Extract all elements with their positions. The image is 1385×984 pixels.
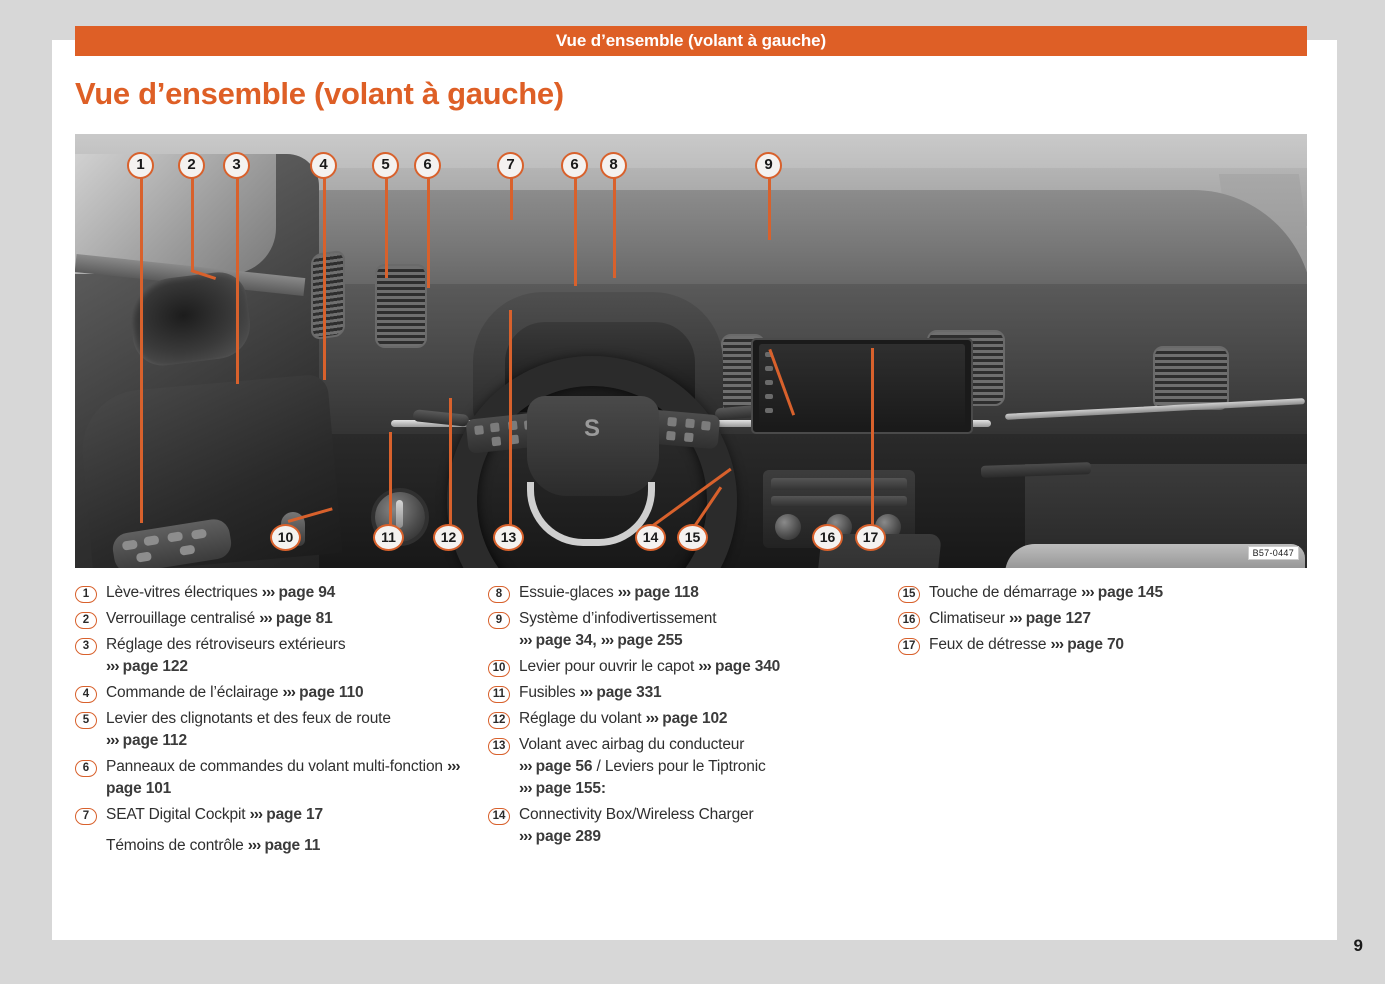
page-ref-12[interactable]: page 102 <box>662 710 727 727</box>
legend-item-8: 8 Essuie-glaces ››› page 118 <box>488 582 898 604</box>
legend-item-2: 2 Verrouillage centralisé ››› page 81 <box>75 608 488 630</box>
legend-label-10: Levier pour ouvrir le capot <box>519 658 694 675</box>
page-number: 9 <box>1354 936 1363 956</box>
page-ref-4[interactable]: page 110 <box>299 684 363 701</box>
page-ref-1[interactable]: page 94 <box>278 584 335 601</box>
ref-arrows-7-secondary: ››› <box>248 837 261 854</box>
legend-item-1: 1 Lève-vitres électriques ››› page 94 <box>75 582 488 604</box>
page-ref-11[interactable]: page 331 <box>596 684 661 701</box>
ref-arrows-16: ››› <box>1009 610 1022 627</box>
ref-arrows-5: ››› <box>106 732 119 749</box>
running-head-text: Vue d’ensemble (volant à gauche) <box>556 31 826 51</box>
legend-label-13-mid: / Leviers pour le Tiptronic <box>597 758 766 775</box>
legend-label-12: Réglage du volant <box>519 710 641 727</box>
ref-arrows-13a: ››› <box>519 758 532 775</box>
legend-number-14: 14 <box>488 808 510 825</box>
legend-number-8: 8 <box>488 586 510 603</box>
legend-label-14: Connectivity Box/Wireless Charger <box>519 806 754 823</box>
ref-arrows-10: ››› <box>698 658 711 675</box>
page-ref-16[interactable]: page 127 <box>1026 610 1091 627</box>
ref-arrows-17: ››› <box>1051 636 1064 653</box>
legend: 1 Lève-vitres électriques ››› page 94 2 … <box>75 582 1315 861</box>
legend-item-9: 9 Système d’infodivertissement ››› page … <box>488 608 898 652</box>
legend-label-1: Lève-vitres électriques <box>106 584 258 601</box>
legend-number-9: 9 <box>488 612 510 629</box>
legend-item-13: 13 Volant avec airbag du conducteur ››› … <box>488 734 898 800</box>
leader-line-13 <box>509 310 512 526</box>
leader-line-1 <box>140 178 143 523</box>
ref-arrows-11: ››› <box>580 684 593 701</box>
dashboard-photo: S B57-0447 <box>75 134 1307 568</box>
seat-logo: S <box>563 416 623 442</box>
ref-arrows-1: ››› <box>262 584 275 601</box>
leader-line-2 <box>191 178 194 270</box>
legend-label-11: Fusibles <box>519 684 576 701</box>
legend-item-5: 5 Levier des clignotants et des feux de … <box>75 708 488 752</box>
legend-label-17: Feux de détresse <box>929 636 1046 653</box>
legend-label-9: Système d’infodivertissement <box>519 610 716 627</box>
callout-marker-3: 3 <box>223 152 250 179</box>
legend-item-15: 15 Touche de démarrage ››› page 145 <box>898 582 1298 604</box>
legend-text-16: Climatiseur ››› page 127 <box>929 608 1091 630</box>
page-ref-7[interactable]: page 17 <box>266 806 323 823</box>
page-ref-2[interactable]: page 81 <box>276 610 333 627</box>
legend-text-1: Lève-vitres électriques ››› page 94 <box>106 582 335 604</box>
callout-marker-2: 2 <box>178 152 205 179</box>
legend-item-3: 3 Réglage des rétroviseurs extérieurs ››… <box>75 634 488 678</box>
photo-vent-right <box>1153 346 1229 410</box>
legend-item-14: 14 Connectivity Box/Wireless Charger ›››… <box>488 804 898 848</box>
callout-marker-6-right: 6 <box>561 152 588 179</box>
photo-infotainment-screen <box>759 344 965 428</box>
leader-line-7 <box>510 178 513 220</box>
legend-label-4: Commande de l’éclairage <box>106 684 278 701</box>
callout-marker-15: 15 <box>677 524 708 551</box>
legend-number-12: 12 <box>488 712 510 729</box>
legend-text-9: Système d’infodivertissement ››› page 34… <box>519 608 716 652</box>
leader-line-8 <box>613 178 616 278</box>
callout-marker-7: 7 <box>497 152 524 179</box>
ref-arrows-13b: ››› <box>519 780 532 797</box>
legend-text-8: Essuie-glaces ››› page 118 <box>519 582 699 604</box>
legend-number-10: 10 <box>488 660 510 677</box>
legend-number-3: 3 <box>75 638 97 655</box>
page-title: Vue d’ensemble (volant à gauche) <box>75 76 564 112</box>
legend-text-11: Fusibles ››› page 331 <box>519 682 662 704</box>
leader-line-12 <box>449 398 452 526</box>
leader-line-5 <box>385 178 388 278</box>
callout-marker-11: 11 <box>373 524 404 551</box>
page-ref-17[interactable]: page 70 <box>1067 636 1124 653</box>
page-ref-14[interactable]: page 289 <box>536 828 601 845</box>
ref-arrows-12: ››› <box>646 710 659 727</box>
legend-label-7: SEAT Digital Cockpit <box>106 806 245 823</box>
legend-item-17: 17 Feux de détresse ››› page 70 <box>898 634 1298 656</box>
legend-number-11: 11 <box>488 686 510 703</box>
ref-arrows-14: ››› <box>519 828 532 845</box>
ref-arrows-4: ››› <box>282 684 295 701</box>
photo-door-panel <box>75 154 319 568</box>
page-ref-13b[interactable]: page 155: <box>536 780 606 797</box>
legend-text-2: Verrouillage centralisé ››› page 81 <box>106 608 333 630</box>
photo-vent-left-b <box>375 264 427 348</box>
legend-label-8: Essuie-glaces <box>519 584 614 601</box>
legend-text-4: Commande de l’éclairage ››› page 110 <box>106 682 363 704</box>
page-ref-7-secondary[interactable]: page 11 <box>264 837 320 854</box>
page-ref-15[interactable]: page 145 <box>1098 584 1163 601</box>
legend-item-7: 7 SEAT Digital Cockpit ››› page 17 <box>75 804 488 826</box>
legend-text-12: Réglage du volant ››› page 102 <box>519 708 727 730</box>
callout-marker-14: 14 <box>635 524 666 551</box>
legend-number-17: 17 <box>898 638 920 655</box>
legend-item-4: 4 Commande de l’éclairage ››› page 110 <box>75 682 488 704</box>
running-head-bar: Vue d’ensemble (volant à gauche) <box>75 26 1307 56</box>
ref-arrows-2: ››› <box>259 610 272 627</box>
ref-arrows-3: ››› <box>106 658 119 675</box>
callout-marker-9: 9 <box>755 152 782 179</box>
leader-line-4 <box>323 178 326 380</box>
leader-line-17 <box>871 348 874 526</box>
legend-item-12: 12 Réglage du volant ››› page 102 <box>488 708 898 730</box>
legend-item-16: 16 Climatiseur ››› page 127 <box>898 608 1298 630</box>
legend-text-14: Connectivity Box/Wireless Charger ››› pa… <box>519 804 754 848</box>
legend-number-7: 7 <box>75 808 97 825</box>
legend-item-6: 6 Panneaux de commandes du volant multi-… <box>75 756 488 800</box>
callout-marker-8: 8 <box>600 152 627 179</box>
legend-label-3: Réglage des rétroviseurs extérieurs <box>106 636 345 653</box>
ref-arrows-7: ››› <box>250 806 263 823</box>
legend-label-6: Panneaux de commandes du volant multi-fo… <box>106 758 443 775</box>
page-canvas: Vue d’ensemble (volant à gauche) Vue d’e… <box>0 0 1385 984</box>
leader-line-3 <box>236 178 239 384</box>
legend-item-10: 10 Levier pour ouvrir le capot ››› page … <box>488 656 898 678</box>
leader-line-6a <box>427 178 430 288</box>
legend-label-16: Climatiseur <box>929 610 1005 627</box>
leader-line-6b <box>574 178 577 286</box>
legend-number-4: 4 <box>75 686 97 703</box>
legend-number-6: 6 <box>75 760 97 777</box>
legend-text-6: Panneaux de commandes du volant multi-fo… <box>106 756 488 800</box>
page-ref-5[interactable]: page 112 <box>123 732 187 749</box>
legend-number-1: 1 <box>75 586 97 603</box>
legend-item-11: 11 Fusibles ››› page 331 <box>488 682 898 704</box>
legend-item-7-secondary: Témoins de contrôle ››› page 11 <box>106 835 488 857</box>
page-ref-3[interactable]: page 122 <box>123 658 188 675</box>
callout-marker-10: 10 <box>270 524 301 551</box>
callout-marker-13: 13 <box>493 524 524 551</box>
legend-number-2: 2 <box>75 612 97 629</box>
photo-vent-left-a <box>311 250 345 341</box>
ref-arrows-15: ››› <box>1081 584 1094 601</box>
callout-marker-6-left: 6 <box>414 152 441 179</box>
leader-line-9 <box>768 178 771 240</box>
legend-column-2: 8 Essuie-glaces ››› page 118 9 Système d… <box>488 582 898 861</box>
ref-arrows-9b: ››› <box>601 632 614 649</box>
callout-marker-12: 12 <box>433 524 464 551</box>
legend-number-16: 16 <box>898 612 920 629</box>
photo-door-handle <box>126 269 254 369</box>
page-ref-6[interactable]: page 101 <box>106 780 171 797</box>
ref-arrows-8: ››› <box>618 584 631 601</box>
legend-number-5: 5 <box>75 712 97 729</box>
ref-arrows-6: ››› <box>447 758 460 775</box>
leader-line-11 <box>389 432 392 526</box>
legend-label-2: Verrouillage centralisé <box>106 610 255 627</box>
legend-number-13: 13 <box>488 738 510 755</box>
legend-text-15: Touche de démarrage ››› page 145 <box>929 582 1163 604</box>
legend-text-17: Feux de détresse ››› page 70 <box>929 634 1124 656</box>
legend-label-13: Volant avec airbag du conducteur <box>519 736 744 753</box>
legend-label-5: Levier des clignotants et des feux de ro… <box>106 710 391 727</box>
page-ref-10[interactable]: page 340 <box>715 658 780 675</box>
callout-marker-17: 17 <box>855 524 886 551</box>
legend-label-15: Touche de démarrage <box>929 584 1077 601</box>
legend-column-3: 15 Touche de démarrage ››› page 145 16 C… <box>898 582 1298 861</box>
callout-marker-16: 16 <box>812 524 843 551</box>
page-ref-8[interactable]: page 118 <box>634 584 698 601</box>
legend-text-3: Réglage des rétroviseurs extérieurs ››› … <box>106 634 345 678</box>
legend-number-15: 15 <box>898 586 920 603</box>
legend-text-7: SEAT Digital Cockpit ››› page 17 <box>106 804 323 826</box>
page-ref-9b[interactable]: page 255 <box>617 632 682 649</box>
legend-column-1: 1 Lève-vitres électriques ››› page 94 2 … <box>75 582 488 861</box>
page-ref-9a[interactable]: page 34, <box>536 632 597 649</box>
legend-text-10: Levier pour ouvrir le capot ››› page 340 <box>519 656 780 678</box>
callout-marker-1: 1 <box>127 152 154 179</box>
page-ref-13a[interactable]: page 56 <box>536 758 593 775</box>
legend-text-13: Volant avec airbag du conducteur ››› pag… <box>519 734 766 800</box>
callout-marker-5: 5 <box>372 152 399 179</box>
callout-marker-4: 4 <box>310 152 337 179</box>
photo-driver-airbag-hub <box>527 396 659 496</box>
photo-credit: B57-0447 <box>1248 546 1299 560</box>
legend-text-5: Levier des clignotants et des feux de ro… <box>106 708 391 752</box>
ref-arrows-9a: ››› <box>519 632 532 649</box>
legend-label-7-secondary: Témoins de contrôle <box>106 837 244 854</box>
